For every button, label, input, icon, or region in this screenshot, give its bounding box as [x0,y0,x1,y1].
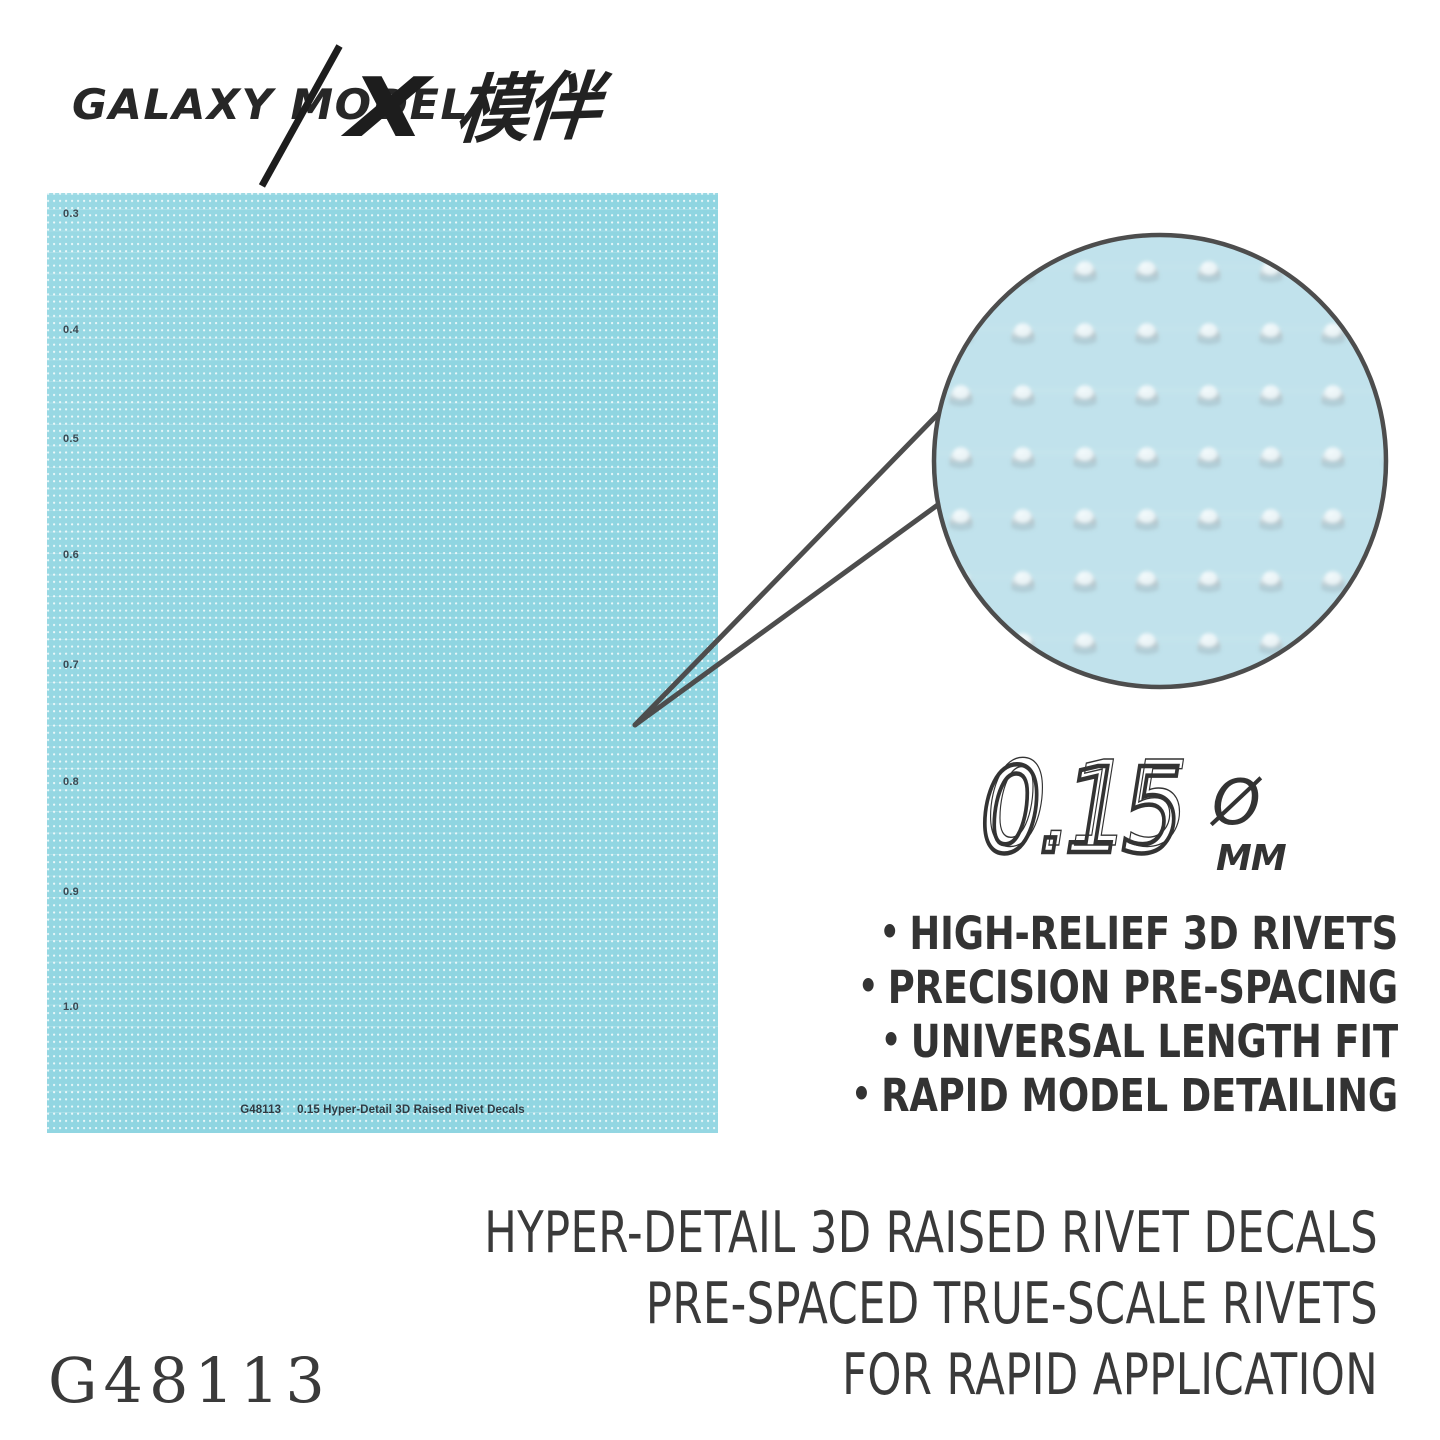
decal-sheet-image: 0.3 0.4 0.5 0.6 0.7 0.8 0.9 1.0 G481130.… [47,193,718,1133]
sheet-caption: G481130.15 Hyper-Detail 3D Raised Rivet … [47,1104,718,1116]
magnifier-callout [620,180,1410,750]
feature-item: •PRECISION PRE-SPACING [824,960,1398,1014]
headline-line-1: HYPER-DETAIL 3D RAISED RIVET DECALS [481,1198,1378,1269]
feature-item: •UNIVERSAL LENGTH FIT [824,1014,1398,1068]
bullet-icon: • [880,910,900,954]
feature-item-label: HIGH-RELIEF 3D RIVETS [909,907,1398,960]
svg-text:0.15: 0.15 [986,752,1185,873]
headline-line-3: FOR RAPID APPLICATION [481,1340,1378,1411]
magnifier-lens [930,230,1404,700]
size-badge: 0.15 0.15 Ø MM [980,752,1300,877]
scale-label: 0.7 [63,659,79,671]
feature-item: •RAPID MODEL DETAILING [824,1068,1398,1122]
scale-label: 0.5 [63,433,79,445]
size-badge-value: 0.15 0.15 [980,752,1185,877]
scale-label: 0.3 [63,208,79,220]
bullet-icon: • [851,1072,871,1116]
bullet-icon: • [881,1018,901,1062]
sheet-caption-text: 0.15 Hyper-Detail 3D Raised Rivet Decals [297,1104,525,1116]
feature-item-label: RAPID MODEL DETAILING [881,1069,1398,1122]
brand-chinese-name: 模伴 [452,70,599,149]
feature-item: •HIGH-RELIEF 3D RIVETS [824,906,1398,960]
product-code: G48113 [48,1346,331,1416]
feature-item-label: PRECISION PRE-SPACING [888,961,1398,1014]
brand-logo: GALAXY MODEL X 模伴 [52,42,612,172]
headline-line-2: PRE-SPACED TRUE-SCALE RIVETS [481,1269,1378,1340]
scale-label: 0.6 [63,549,79,561]
feature-list: •HIGH-RELIEF 3D RIVETS •PRECISION PRE-SP… [698,906,1398,1122]
svg-text:MM: MM [1216,838,1287,877]
bullet-icon: • [858,964,878,1008]
diameter-symbol-icon: Ø [1209,766,1263,839]
svg-text:Ø: Ø [1209,766,1263,839]
sheet-caption-code: G48113 [240,1104,281,1116]
scale-label: 0.8 [63,776,79,788]
product-headline: HYPER-DETAIL 3D RAISED RIVET DECALS PRE-… [198,1198,1378,1411]
scale-label: 1.0 [63,1001,79,1013]
size-badge-unit: MM [1216,838,1287,877]
rivet-dot-field [47,193,718,1133]
logo-x-mark: X [345,68,431,150]
scale-label: 0.4 [63,324,79,336]
feature-item-label: UNIVERSAL LENGTH FIT [911,1015,1398,1068]
scale-label: 0.9 [63,886,79,898]
